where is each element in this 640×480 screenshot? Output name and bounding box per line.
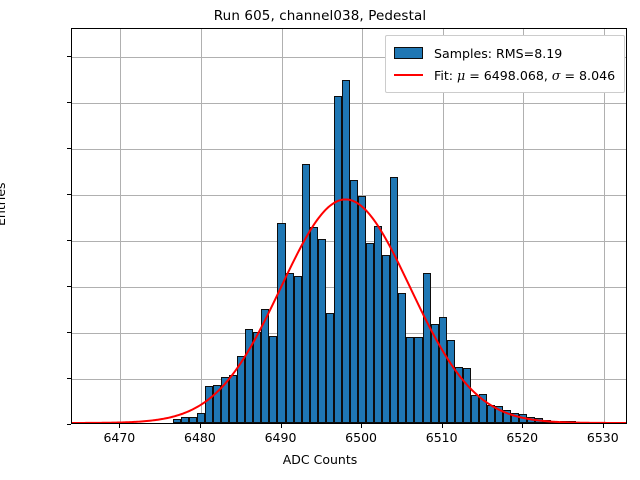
y-tick-mark: [67, 378, 71, 379]
x-tick-mark: [119, 424, 120, 428]
y-tick-mark: [67, 194, 71, 195]
x-tick-label: 6530: [587, 430, 619, 445]
x-tick-mark: [442, 424, 443, 428]
y-tick-mark: [67, 56, 71, 57]
x-tick-label: 6480: [184, 430, 216, 445]
y-tick-mark: [67, 424, 71, 425]
y-tick-mark: [67, 286, 71, 287]
histogram-figure: Run 605, channel038, Pedestal 0100200300…: [0, 0, 640, 480]
x-tick-mark: [361, 424, 362, 428]
x-tick-label: 6520: [506, 430, 538, 445]
legend-patch-icon: [394, 47, 423, 59]
mu-value: 6498.068: [484, 68, 544, 83]
y-tick-mark: [67, 102, 71, 103]
page-title: Run 605, channel038, Pedestal: [0, 8, 640, 24]
legend-line-icon: [394, 74, 423, 76]
x-axis-label: ADC Counts: [0, 452, 640, 467]
x-tick-label: 6470: [103, 430, 135, 445]
legend: Samples: RMS=8.19 Fit: μ = 6498.068, σ =…: [385, 35, 625, 93]
y-axis-label: Entries: [0, 182, 8, 226]
legend-fit-prefix: Fit:: [434, 68, 457, 83]
x-tick-mark: [522, 424, 523, 428]
x-tick-mark: [200, 424, 201, 428]
legend-item-fit: Fit: μ = 6498.068, σ = 8.046: [394, 64, 615, 86]
mu-symbol: μ: [457, 68, 465, 83]
legend-label-samples: Samples: RMS=8.19: [434, 46, 562, 61]
x-tick-label: 6500: [345, 430, 377, 445]
x-tick-label: 6490: [265, 430, 297, 445]
y-tick-mark: [67, 240, 71, 241]
legend-item-samples: Samples: RMS=8.19: [394, 42, 615, 64]
y-tick-mark: [67, 148, 71, 149]
x-tick-label: 6510: [426, 430, 458, 445]
x-tick-mark: [603, 424, 604, 428]
y-tick-mark: [67, 332, 71, 333]
x-tick-mark: [281, 424, 282, 428]
sigma-value: 8.046: [579, 68, 615, 83]
legend-label-fit: Fit: μ = 6498.068, σ = 8.046: [434, 68, 615, 83]
